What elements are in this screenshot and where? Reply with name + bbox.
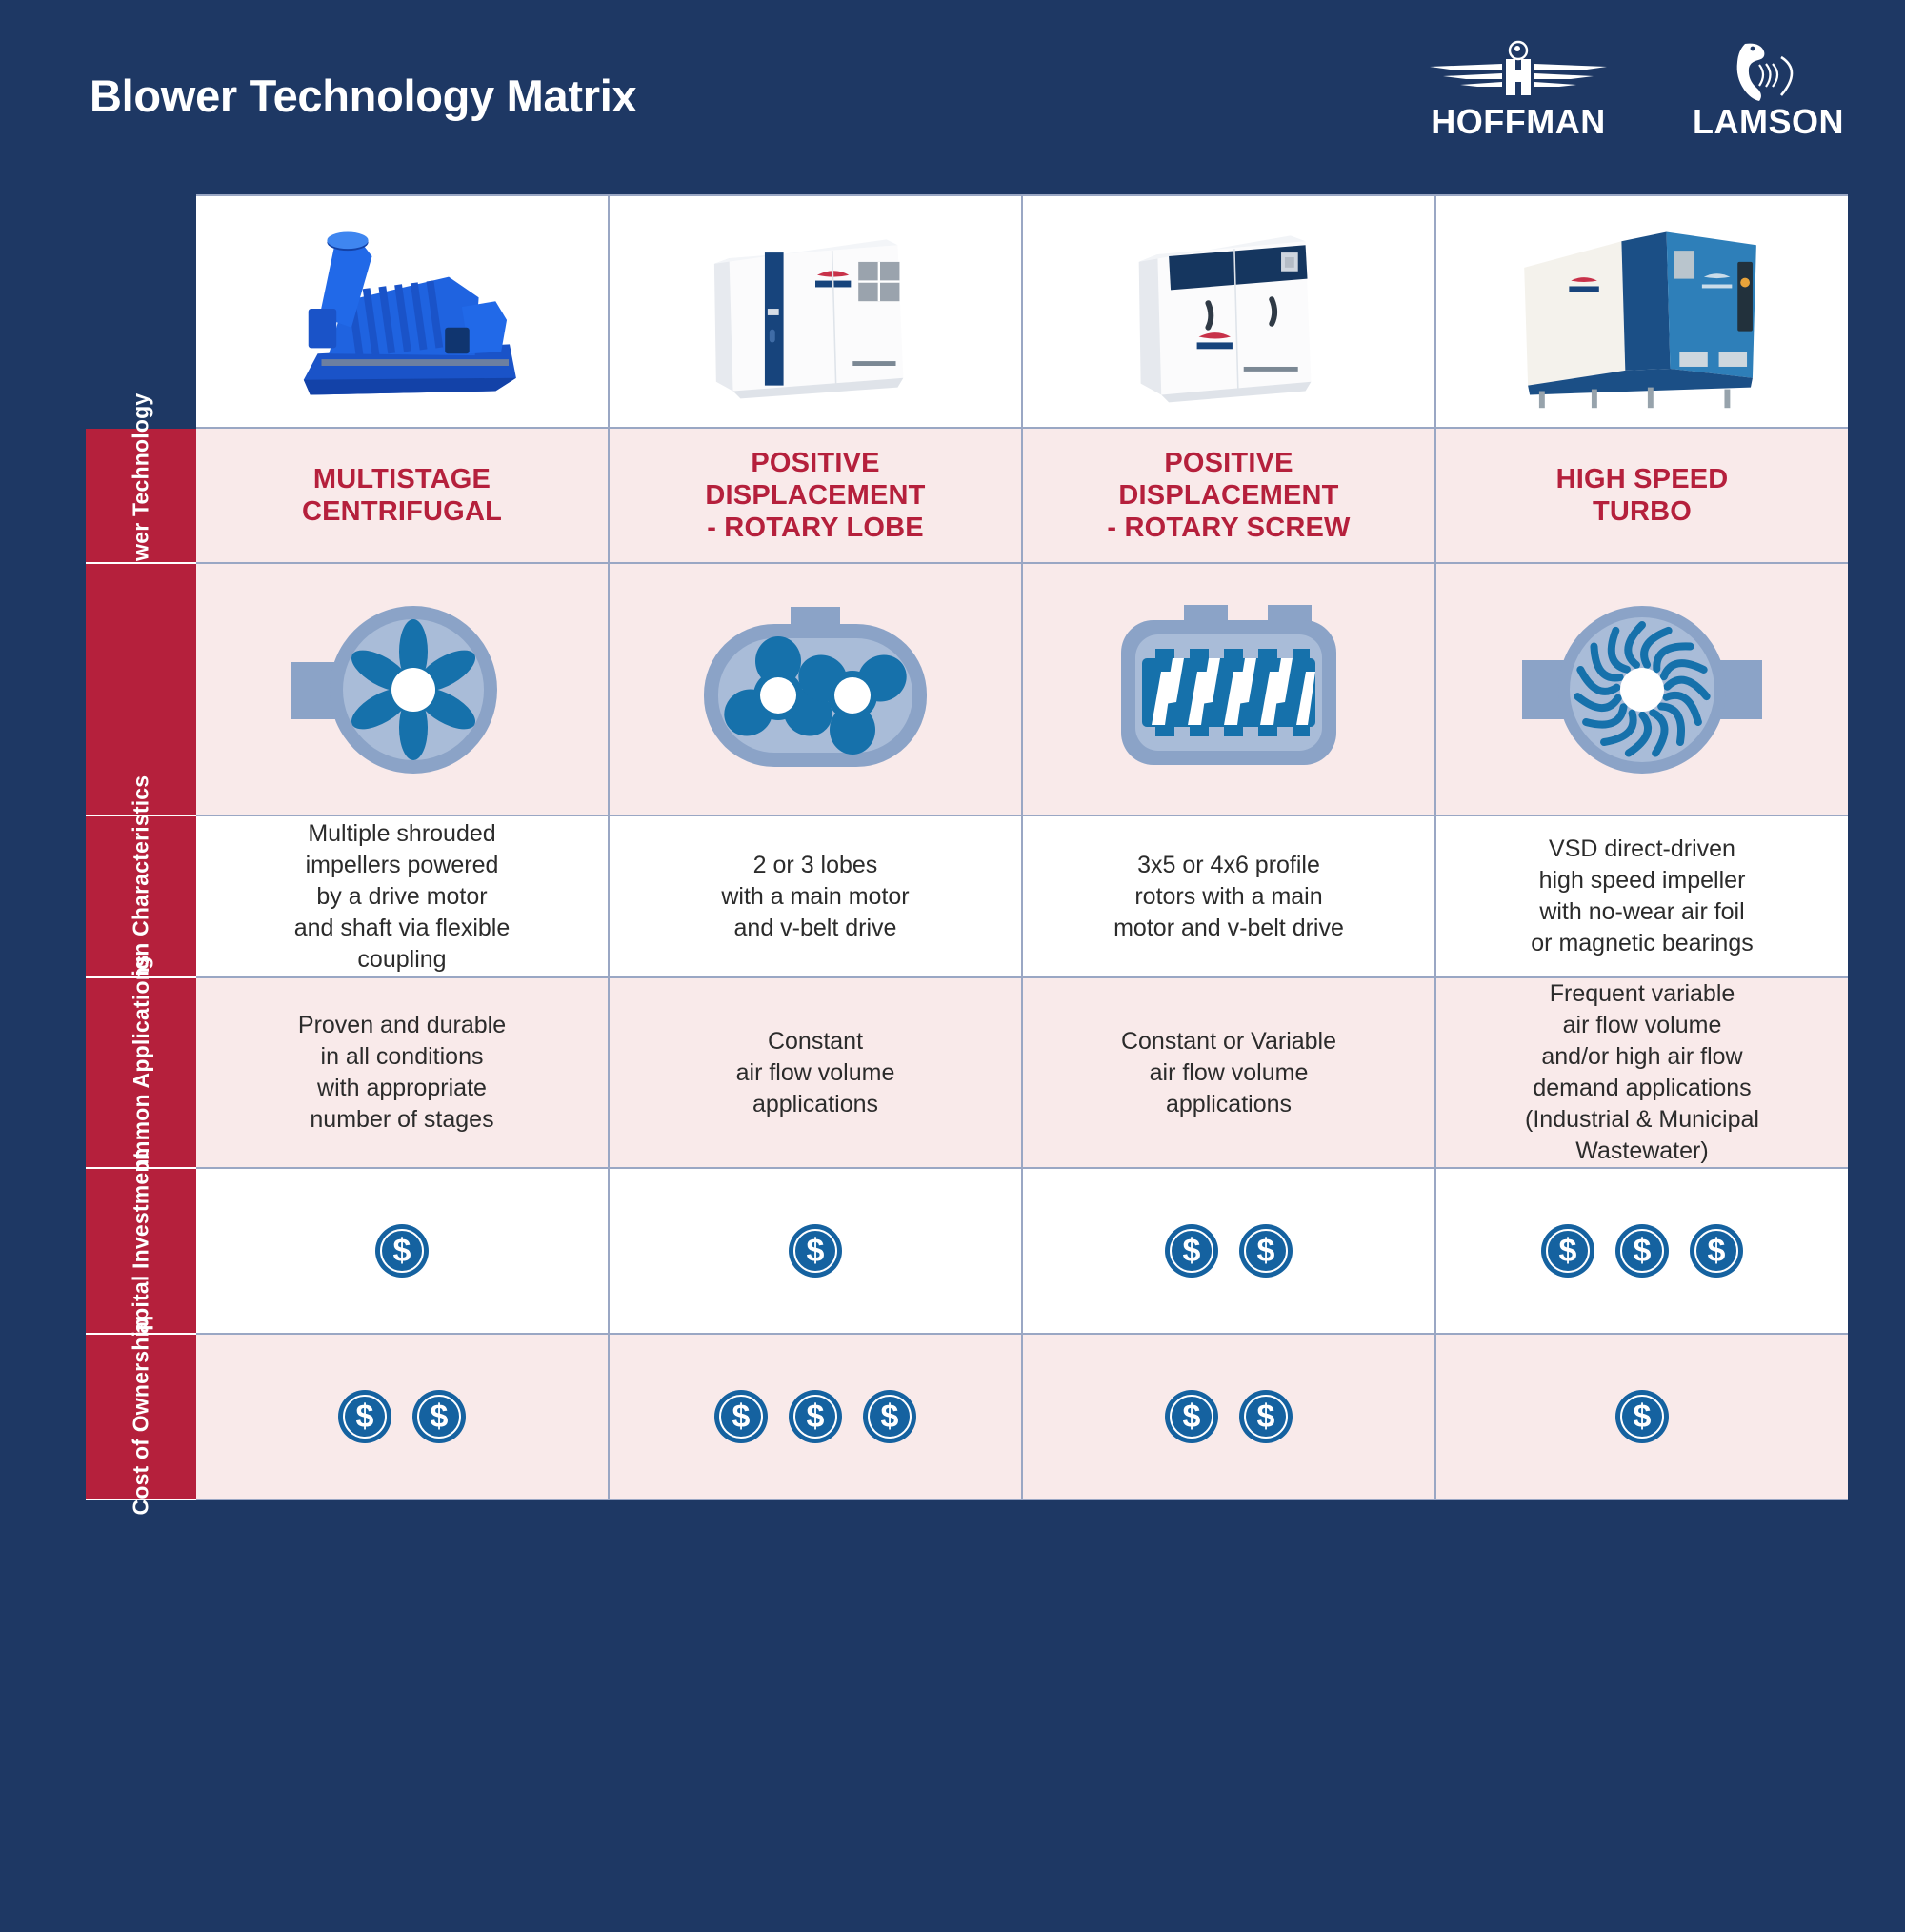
- text-line: Wastewater): [1525, 1136, 1759, 1167]
- text-line: and shaft via flexible: [294, 913, 511, 944]
- title-line: CENTRIFUGAL: [302, 495, 502, 528]
- dollar-coin-icon: $: [338, 1390, 391, 1443]
- capital-investment-row: Capital Investment $ $ $ $: [86, 1169, 1848, 1335]
- title-cell-rotary-screw: POSITIVE DISPLACEMENT - ROTARY SCREW: [1023, 429, 1436, 564]
- capital-cell-high-speed-turbo: $ $ $: [1436, 1169, 1848, 1335]
- design-cell-multistage-centrifugal: Multiple shrouded impellers powered by a…: [196, 816, 610, 978]
- applications-cell-high-speed-turbo: Frequent variable air flow volume and/or…: [1436, 978, 1848, 1169]
- icon-cell-rotary-screw: [1023, 564, 1436, 816]
- dollar-symbol: $: [1257, 1400, 1275, 1433]
- text-line: and v-belt drive: [721, 913, 909, 944]
- text-line: air flow volume: [736, 1057, 895, 1089]
- lamson-brand: LAMSON: [1693, 38, 1844, 139]
- text-line: high speed impeller: [1531, 865, 1753, 896]
- text-line: applications: [1121, 1089, 1336, 1120]
- text-line: with a main motor: [721, 881, 909, 913]
- photo-cell-multistage-centrifugal: [196, 194, 610, 429]
- title-line: - ROTARY LOBE: [705, 512, 925, 544]
- title-cell-rotary-lobe: POSITIVE DISPLACEMENT - ROTARY LOBE: [610, 429, 1023, 564]
- photo-cell-high-speed-turbo: [1436, 194, 1848, 429]
- dollar-symbol: $: [1183, 1400, 1201, 1433]
- design-text-3: VSD direct-driven high speed impeller wi…: [1531, 834, 1753, 959]
- title-line: DISPLACEMENT: [1107, 479, 1350, 512]
- dollar-symbol: $: [1634, 1235, 1652, 1267]
- multistage-centrifugal-blower-photo: [204, 204, 600, 419]
- applications-cell-rotary-lobe: Constant air flow volume applications: [610, 978, 1023, 1169]
- text-line: (Industrial & Municipal: [1525, 1104, 1759, 1136]
- applications-text-3: Frequent variable air flow volume and/or…: [1525, 978, 1759, 1167]
- dollar-coin-icon: $: [1615, 1390, 1669, 1443]
- technology-icon-row: [86, 564, 1848, 816]
- dollar-symbol: $: [1183, 1235, 1201, 1267]
- design-cell-high-speed-turbo: VSD direct-driven high speed impeller wi…: [1436, 816, 1848, 978]
- page-title: Blower Technology Matrix: [90, 70, 636, 122]
- text-line: coupling: [294, 944, 511, 976]
- applications-text-1: Constant air flow volume applications: [736, 1026, 895, 1120]
- text-line: and/or high air flow: [1525, 1041, 1759, 1073]
- dollar-symbol: $: [732, 1400, 751, 1433]
- dollar-coin-icon: $: [714, 1390, 768, 1443]
- dollar-coin-icon: $: [1239, 1390, 1293, 1443]
- title-line: HIGH SPEED: [1556, 463, 1729, 495]
- design-text-2: 3x5 or 4x6 profile rotors with a main mo…: [1113, 850, 1344, 944]
- technology-title-row: Blower Technology MULTISTAGE CENTRIFUGAL…: [86, 429, 1848, 564]
- ownership-cell-multistage-centrifugal: $ $: [196, 1335, 610, 1500]
- capital-coins-1: $: [789, 1224, 842, 1278]
- capital-coins-0: $: [375, 1224, 429, 1278]
- photo-cell-rotary-lobe: [610, 194, 1023, 429]
- photo-cell-rotary-screw: [1023, 194, 1436, 429]
- technology-title-2: POSITIVE DISPLACEMENT - ROTARY SCREW: [1107, 447, 1350, 545]
- dollar-coin-icon: $: [1165, 1224, 1218, 1278]
- dollar-coin-icon: $: [789, 1224, 842, 1278]
- design-characteristics-row: Design Characteristics Multiple shrouded…: [86, 816, 1848, 978]
- high-speed-turbo-blower-photo: [1444, 204, 1840, 419]
- title-line: MULTISTAGE: [302, 463, 502, 495]
- text-line: air flow volume: [1121, 1057, 1336, 1089]
- text-line: Constant or Variable: [1121, 1026, 1336, 1057]
- turbo-impeller-icon: [1520, 599, 1764, 780]
- text-line: Constant: [736, 1026, 895, 1057]
- text-line: number of stages: [298, 1104, 506, 1136]
- dollar-symbol: $: [356, 1400, 374, 1433]
- dollar-symbol: $: [1634, 1400, 1652, 1433]
- title-line: TURBO: [1556, 495, 1729, 528]
- dollar-coin-icon: $: [1541, 1224, 1594, 1278]
- text-line: Frequent variable: [1525, 978, 1759, 1010]
- technology-title-1: POSITIVE DISPLACEMENT - ROTARY LOBE: [705, 447, 925, 545]
- product-photo-row: [86, 194, 1848, 429]
- centrifugal-impeller-icon: [291, 599, 512, 780]
- text-line: demand applications: [1525, 1073, 1759, 1104]
- design-cell-rotary-lobe: 2 or 3 lobes with a main motor and v-bel…: [610, 816, 1023, 978]
- capital-coins-2: $ $: [1165, 1224, 1293, 1278]
- dollar-symbol: $: [1708, 1235, 1726, 1267]
- dollar-coin-icon: $: [1239, 1224, 1293, 1278]
- dollar-symbol: $: [881, 1400, 899, 1433]
- text-line: 3x5 or 4x6 profile: [1113, 850, 1344, 881]
- ownership-coins-2: $ $: [1165, 1390, 1293, 1443]
- ownership-coins-3: $: [1615, 1390, 1669, 1443]
- text-line: impellers powered: [294, 850, 511, 881]
- text-line: in all conditions: [298, 1041, 506, 1073]
- text-line: or magnetic bearings: [1531, 928, 1753, 959]
- dollar-symbol: $: [1257, 1235, 1275, 1267]
- title-line: - ROTARY SCREW: [1107, 512, 1350, 544]
- row-label-cost-of-ownership-text: Cost of Ownership: [128, 1318, 153, 1516]
- rotary-screw-blower-package-photo: [1031, 204, 1427, 419]
- dollar-symbol: $: [393, 1235, 411, 1267]
- technology-matrix-table: Blower Technology MULTISTAGE CENTRIFUGAL…: [86, 194, 1848, 1500]
- ownership-cell-high-speed-turbo: $: [1436, 1335, 1848, 1500]
- design-text-1: 2 or 3 lobes with a main motor and v-bel…: [721, 850, 909, 944]
- capital-coins-3: $ $ $: [1541, 1224, 1743, 1278]
- row-label-common-applications: Common Applications: [86, 978, 196, 1169]
- text-line: with no-wear air foil: [1531, 896, 1753, 928]
- applications-text-0: Proven and durable in all conditions wit…: [298, 1010, 506, 1136]
- winged-h-logo-icon: [1418, 38, 1618, 101]
- dollar-symbol: $: [431, 1400, 449, 1433]
- common-applications-row: Common Applications Proven and durable i…: [86, 978, 1848, 1169]
- rotary-lobe-rotors-icon: [696, 599, 934, 780]
- cost-of-ownership-row: Cost of Ownership $ $ $ $ $: [86, 1335, 1848, 1500]
- row-label-cost-of-ownership: Cost of Ownership: [86, 1335, 196, 1500]
- icon-cell-high-speed-turbo: [1436, 564, 1848, 816]
- ownership-coins-0: $ $: [338, 1390, 466, 1443]
- dollar-coin-icon: $: [375, 1224, 429, 1278]
- row-label-capital-investment: Capital Investment: [86, 1169, 196, 1335]
- dollar-symbol: $: [1559, 1235, 1577, 1267]
- lamson-brand-name: LAMSON: [1693, 105, 1844, 139]
- text-line: Multiple shrouded: [294, 818, 511, 850]
- applications-cell-rotary-screw: Constant or Variable air flow volume app…: [1023, 978, 1436, 1169]
- icon-cell-multistage-centrifugal: [196, 564, 610, 816]
- icon-cell-rotary-lobe: [610, 564, 1023, 816]
- blower-technology-matrix-page: Blower Technology Matrix: [0, 0, 1905, 1932]
- hoffman-brand: HOFFMAN: [1418, 38, 1618, 139]
- dollar-coin-icon: $: [863, 1390, 916, 1443]
- ownership-cell-rotary-screw: $ $: [1023, 1335, 1436, 1500]
- applications-text-2: Constant or Variable air flow volume app…: [1121, 1026, 1336, 1120]
- text-line: VSD direct-driven: [1531, 834, 1753, 865]
- capital-cell-multistage-centrifugal: $: [196, 1169, 610, 1335]
- text-line: applications: [736, 1089, 895, 1120]
- text-line: with appropriate: [298, 1073, 506, 1104]
- capital-cell-rotary-screw: $ $: [1023, 1169, 1436, 1335]
- rotary-lobe-blower-package-photo: [617, 204, 1013, 419]
- dollar-coin-icon: $: [1615, 1224, 1669, 1278]
- text-line: air flow volume: [1525, 1010, 1759, 1041]
- dollar-coin-icon: $: [1165, 1390, 1218, 1443]
- text-line: by a drive motor: [294, 881, 511, 913]
- title-cell-high-speed-turbo: HIGH SPEED TURBO: [1436, 429, 1848, 564]
- title-cell-multistage-centrifugal: MULTISTAGE CENTRIFUGAL: [196, 429, 610, 564]
- text-line: motor and v-belt drive: [1113, 913, 1344, 944]
- design-cell-rotary-screw: 3x5 or 4x6 profile rotors with a main mo…: [1023, 816, 1436, 978]
- text-line: rotors with a main: [1113, 881, 1344, 913]
- title-line: POSITIVE: [1107, 447, 1350, 479]
- text-line: Proven and durable: [298, 1010, 506, 1041]
- brand-logos: HOFFMAN LAMSON: [1418, 38, 1844, 152]
- applications-cell-multistage-centrifugal: Proven and durable in all conditions wit…: [196, 978, 610, 1169]
- page-header: Blower Technology Matrix: [0, 0, 1905, 191]
- capital-cell-rotary-lobe: $: [610, 1169, 1023, 1335]
- hoffman-brand-name: HOFFMAN: [1431, 105, 1605, 139]
- row-label-blower-technology: Blower Technology: [86, 429, 196, 564]
- dollar-symbol: $: [807, 1400, 825, 1433]
- dollar-coin-icon: $: [1690, 1224, 1743, 1278]
- dollar-symbol: $: [807, 1235, 825, 1267]
- technology-title-3: HIGH SPEED TURBO: [1556, 463, 1729, 528]
- rotary-screw-rotors-icon: [1110, 599, 1348, 780]
- title-line: DISPLACEMENT: [705, 479, 925, 512]
- ownership-coins-1: $ $ $: [714, 1390, 916, 1443]
- dollar-coin-icon: $: [789, 1390, 842, 1443]
- dollar-coin-icon: $: [412, 1390, 466, 1443]
- title-line: POSITIVE: [705, 447, 925, 479]
- design-text-0: Multiple shrouded impellers powered by a…: [294, 818, 511, 976]
- text-line: 2 or 3 lobes: [721, 850, 909, 881]
- technology-title-0: MULTISTAGE CENTRIFUGAL: [302, 463, 502, 528]
- lamson-seahorse-logo-icon: [1716, 38, 1821, 101]
- ownership-cell-rotary-lobe: $ $ $: [610, 1335, 1023, 1500]
